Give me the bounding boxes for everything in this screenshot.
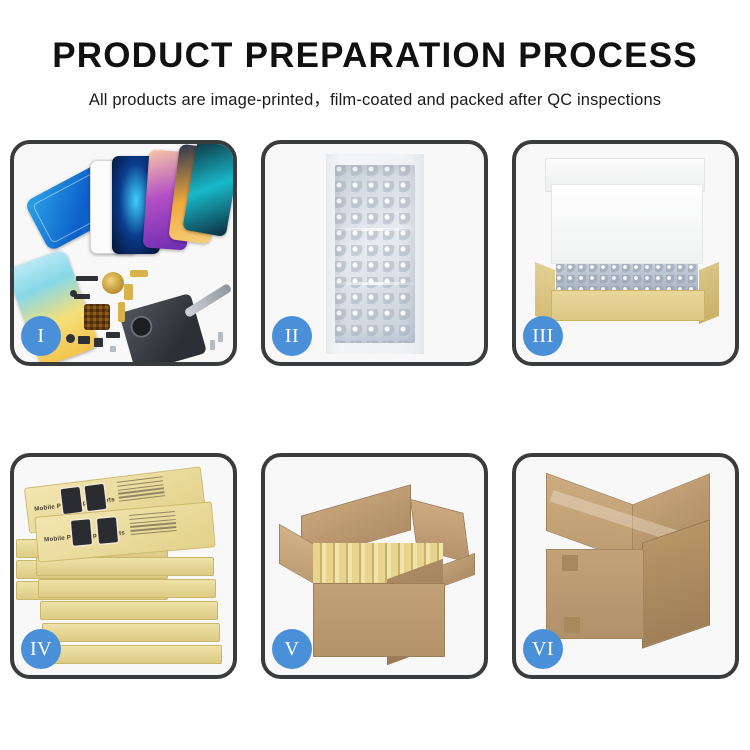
spare-part xyxy=(118,302,125,322)
bubble-wrap-sleeve xyxy=(326,154,424,354)
coil-part xyxy=(102,272,124,294)
spare-part xyxy=(218,332,223,342)
wrap-seam xyxy=(335,228,415,231)
spare-part xyxy=(70,290,77,297)
box-screen-image xyxy=(85,484,107,511)
process-step-panel-2: II xyxy=(261,140,488,366)
stacked-box-layer xyxy=(40,601,218,620)
process-step-panel-1: I xyxy=(10,140,237,366)
box-spec-lines xyxy=(129,511,177,538)
chip-part xyxy=(84,304,110,330)
step-badge-5: V xyxy=(272,629,312,669)
box-screen-image xyxy=(61,487,83,514)
spare-part xyxy=(94,338,103,347)
spare-part xyxy=(76,276,98,281)
carton-hand-hole xyxy=(564,617,580,633)
bubble-wrapped-contents xyxy=(556,264,698,291)
process-steps-grid: I II III xyxy=(10,140,740,680)
carton-hand-hole xyxy=(562,555,578,571)
process-step-panel-6: VI xyxy=(512,453,739,679)
process-step-panel-5: V xyxy=(261,453,488,679)
wrap-seam xyxy=(335,282,415,285)
bubble-wrap-texture xyxy=(335,165,415,343)
spare-part xyxy=(78,336,90,344)
spare-part xyxy=(210,340,215,350)
sealed-carton-side xyxy=(642,519,710,648)
mailer-box-front xyxy=(551,290,705,321)
spare-part xyxy=(66,334,75,343)
step-badge-1: I xyxy=(21,316,61,356)
spare-part xyxy=(106,332,120,338)
header: PRODUCT PREPARATION PROCESS All products… xyxy=(0,0,750,110)
stacked-box-layer xyxy=(42,623,220,642)
stacked-box-layer xyxy=(44,645,222,664)
product-preparation-infographic: PRODUCT PREPARATION PROCESS All products… xyxy=(0,0,750,750)
step-badge-3: III xyxy=(523,316,563,356)
box-screen-image xyxy=(71,519,92,546)
step-badge-6: VI xyxy=(523,629,563,669)
step-badge-4: IV xyxy=(21,629,61,669)
spare-part xyxy=(124,284,133,300)
sealed-carton-front xyxy=(546,549,644,639)
page-subtitle: All products are image-printed，film-coat… xyxy=(0,75,750,110)
box-screen-image xyxy=(97,517,118,544)
process-step-panel-3: III xyxy=(512,140,739,366)
spare-part xyxy=(110,346,116,352)
page-title: PRODUCT PREPARATION PROCESS xyxy=(0,0,750,75)
step-badge-2: II xyxy=(272,316,312,356)
process-step-panel-4: Mobile Phone Spare Parts Mobile Phone Sp… xyxy=(10,453,237,679)
carton-front-panel xyxy=(313,583,445,657)
spare-part xyxy=(130,270,148,277)
stacked-box-layer xyxy=(38,579,216,598)
mailer-box-interior xyxy=(551,184,703,264)
